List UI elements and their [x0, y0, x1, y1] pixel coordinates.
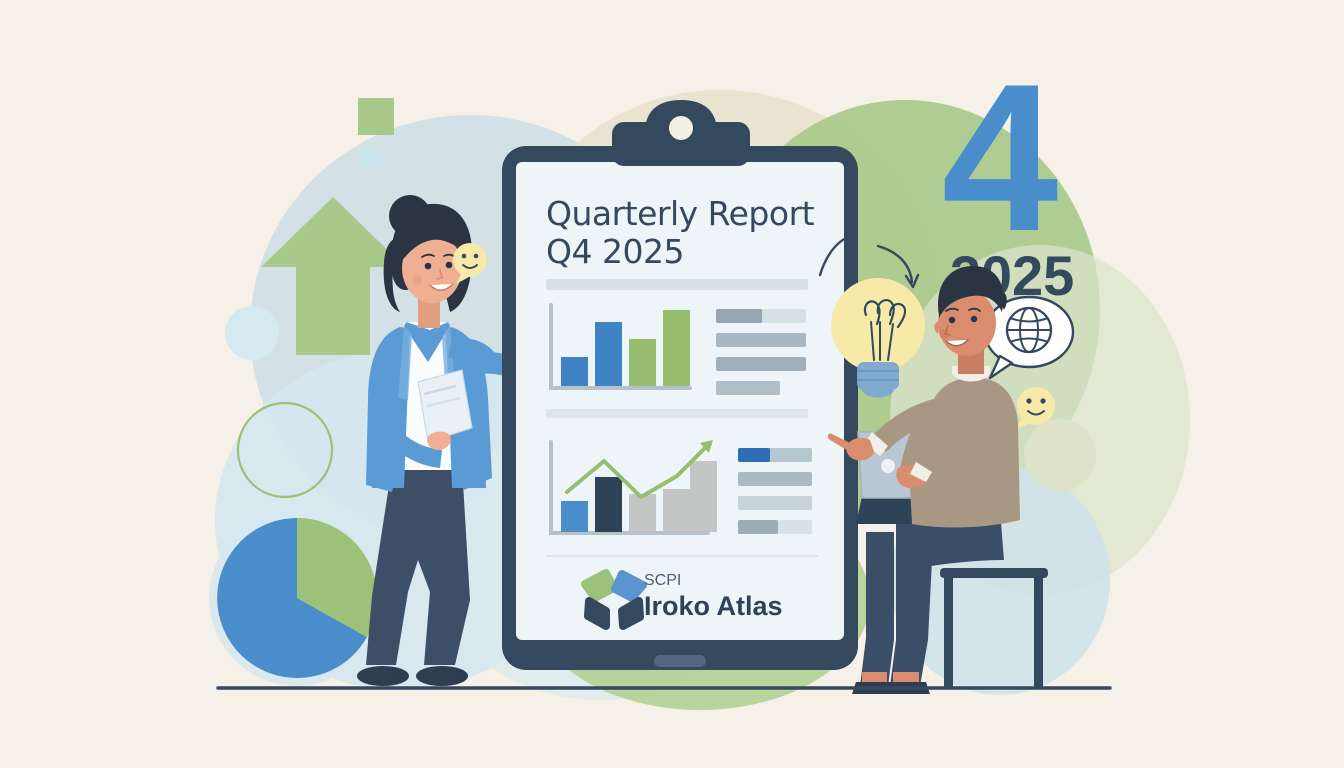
- curved-arrow-icon: [820, 236, 852, 275]
- analyst-leg-front: [890, 520, 934, 686]
- illustration-canvas: Quarterly Report Q4 2025: [0, 0, 1344, 768]
- analyst-pointing-finger: [828, 434, 852, 452]
- stool: [940, 568, 1048, 688]
- idea-lightbulb-icon: [831, 278, 925, 398]
- analyst-blush: [939, 329, 949, 339]
- right-scene-layer: 4 2025: [0, 0, 1344, 768]
- smiley-speech-bubble-right: [1015, 387, 1055, 430]
- analyst-eye-left: [949, 317, 955, 323]
- analyst-eye-right: [971, 316, 977, 322]
- big-quarter-numeral: 4: [942, 40, 1059, 275]
- analyst-leg-back: [860, 532, 894, 686]
